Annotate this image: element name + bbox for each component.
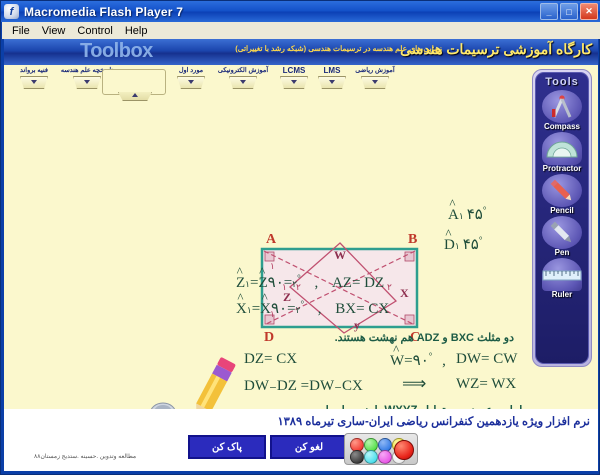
eq-sign-a (452, 205, 456, 222)
minimize-button[interactable]: _ (540, 3, 558, 20)
current-color-swatch[interactable] (394, 440, 414, 460)
compass-icon (542, 90, 582, 123)
svg-text:X: X (400, 286, 409, 300)
menu-help[interactable]: Help (119, 24, 154, 38)
menu-file[interactable]: File (6, 24, 36, 38)
footer-bar: نرم افزار ویژه یازدهمین کنفرانس ریاضی ای… (4, 409, 598, 471)
ruler-icon (542, 258, 582, 291)
tools-panel-title: Tools (536, 76, 588, 88)
chevron-up-icon (118, 92, 152, 101)
tab-open-panel[interactable] (102, 69, 166, 95)
equation-line-4-right: WZ= WX (456, 376, 516, 393)
tab-bar: فنیه برواند تاریخچه علم هندسه مورد دوم م… (4, 65, 598, 99)
toolbox-watermark: Toolbox (80, 40, 153, 63)
tab-label: فنیه برواند (12, 67, 56, 75)
chevron-down-icon (318, 76, 346, 89)
menu-bar: File View Control Help (2, 22, 600, 39)
pencil-icon (542, 174, 582, 207)
tab-label: آموزش ریاضی (352, 67, 398, 75)
tool-ruler[interactable]: Ruler (536, 258, 588, 299)
svg-text:y: y (354, 318, 360, 332)
flash-player-window: f Macromedia Flash Player 7 _ □ ✕ File V… (0, 0, 600, 475)
tool-compass[interactable]: Compass (536, 90, 588, 131)
tab-5[interactable]: LCMS (276, 67, 312, 89)
equation-line-1: Z١=Z٢=٩٠° , AZ= DZ (236, 273, 384, 292)
svg-text:١: ١ (270, 261, 275, 271)
svg-text:A: A (266, 232, 277, 247)
equation-line-2: X١=X٢=٩٠° , BX= CX (236, 299, 389, 318)
title-bar: f Macromedia Flash Player 7 _ □ ✕ (1, 1, 600, 22)
tool-label: Pencil (550, 206, 574, 215)
svg-text:D: D (264, 330, 274, 345)
svg-text:W: W (334, 248, 346, 262)
tool-label: Pen (555, 248, 570, 257)
equation-line-3-right: DW= CW (456, 351, 517, 368)
equation-line-3-mid: W=٩٠° , (390, 351, 452, 370)
tab-7[interactable]: آموزش ریاضی (352, 67, 398, 89)
equation-line-4-left: DW₋DZ =DW₋CX (244, 376, 363, 395)
footer-title: نرم افزار ویژه یازدهمین کنفرانس ریاضی ای… (277, 414, 590, 428)
tool-label: Protractor (543, 164, 582, 173)
protractor-icon (542, 132, 582, 165)
angle-D-equation: D١۴۵° (444, 235, 482, 254)
equation-line-3-left: DZ= CX (244, 351, 297, 368)
tab-label: آموزش الکترونیکی (214, 67, 272, 75)
tab-6[interactable]: LMS (316, 67, 348, 89)
tab-3[interactable]: مورد اول (172, 67, 210, 89)
erase-button[interactable]: پاک کن (188, 435, 266, 459)
tab-label: LCMS (276, 67, 312, 75)
footer-credit: مطالعه وتدوین .حسینه .ستدیج زمستان۸۸ (34, 453, 136, 460)
tab-4[interactable]: آموزش الکترونیکی (214, 67, 272, 89)
maximize-button[interactable]: □ (560, 3, 578, 20)
implies-arrow: ⟹ (402, 374, 426, 394)
window-controls: _ □ ✕ (540, 3, 600, 20)
svg-text:٢: ٢ (387, 282, 392, 292)
chevron-down-icon (73, 76, 101, 89)
tab-0[interactable]: فنیه برواند (12, 67, 56, 89)
header-subtitle: زیبایی های علم هندسه در ترسیمات هندسی (ش… (235, 44, 442, 53)
swatch-black[interactable] (350, 450, 364, 464)
tab-label: مورد اول (172, 67, 210, 75)
tool-protractor[interactable]: Protractor (536, 132, 588, 173)
chevron-down-icon (177, 76, 205, 89)
chevron-down-icon (20, 76, 48, 89)
menu-control[interactable]: Control (71, 24, 118, 38)
pen-icon (542, 216, 582, 249)
svg-text:B: B (408, 232, 417, 247)
window-title: Macromedia Flash Player 7 (24, 5, 183, 19)
tools-panel: Tools Compass (532, 69, 592, 367)
tool-pencil[interactable]: Pencil (536, 174, 588, 215)
tool-pen[interactable]: Pen (536, 216, 588, 257)
undo-button[interactable]: لغو کن (270, 435, 348, 459)
close-button[interactable]: ✕ (580, 3, 598, 20)
congruence-note: دو مثلث BXC و ADZ هم نهشت هستند. (335, 331, 514, 344)
chevron-down-icon (361, 76, 389, 89)
color-palette[interactable] (344, 433, 418, 465)
tool-label: Compass (544, 122, 580, 131)
swatch-cyan[interactable] (364, 450, 378, 464)
flash-stage: Toolbox کارگاه آموزشی ترسیمات هندسی زیبا… (4, 39, 598, 471)
menu-view[interactable]: View (36, 24, 72, 38)
chevron-down-icon (229, 76, 257, 89)
tab-label: LMS (316, 67, 348, 75)
tool-label: Ruler (552, 290, 572, 299)
app-header: Toolbox کارگاه آموزشی ترسیمات هندسی زیبا… (4, 39, 598, 65)
chevron-down-icon (280, 76, 308, 89)
flash-icon: f (4, 4, 19, 19)
swatch-magenta[interactable] (378, 450, 392, 464)
